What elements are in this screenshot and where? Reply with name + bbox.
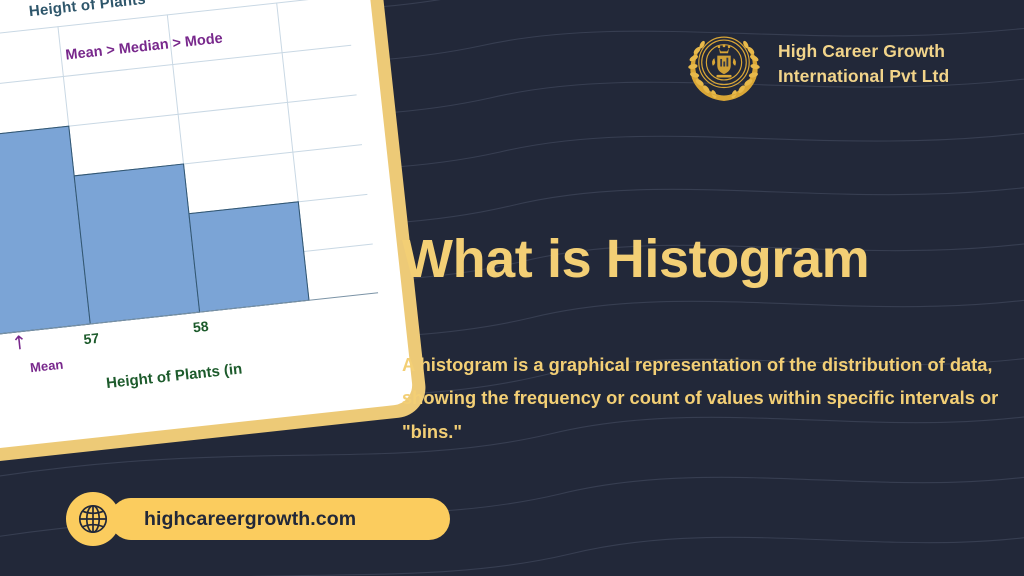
- xtick-label-58: 58: [192, 318, 209, 336]
- xtick-label-57: 57: [83, 330, 100, 348]
- bar-58: [188, 201, 309, 312]
- page-title: What is Histogram: [402, 228, 869, 290]
- chart-card-surface: Height of Plants: [0, 0, 414, 464]
- bar-57: [74, 163, 201, 324]
- globe-icon-badge: [66, 492, 120, 546]
- brand-name-line-2: International Pvt Ltd: [778, 64, 949, 89]
- mean-arrow-label: Mean: [29, 357, 64, 376]
- slide-canvas: Height of Plants: [0, 0, 1024, 576]
- bar-56: [0, 126, 91, 337]
- mean-arrow-icon: ↑: [11, 333, 29, 354]
- x-axis-title: Height of Plants (in: [105, 360, 243, 392]
- brand-logo-block: High Career Growth International Pvt Ltd: [682, 22, 949, 106]
- plot-area: [0, 0, 378, 348]
- body-paragraph: A histogram is a graphical representatio…: [402, 348, 1002, 448]
- laurel-wreath-crest-icon: [682, 22, 766, 106]
- globe-icon: [75, 501, 111, 537]
- brand-name: High Career Growth International Pvt Ltd: [778, 39, 949, 89]
- website-badge[interactable]: highcareergrowth.com: [66, 492, 356, 546]
- chart-card: Height of Plants: [0, 0, 429, 478]
- histogram-figure: Height of Plants: [0, 0, 412, 445]
- brand-name-line-1: High Career Growth: [778, 39, 949, 64]
- website-url[interactable]: highcareergrowth.com: [144, 508, 356, 531]
